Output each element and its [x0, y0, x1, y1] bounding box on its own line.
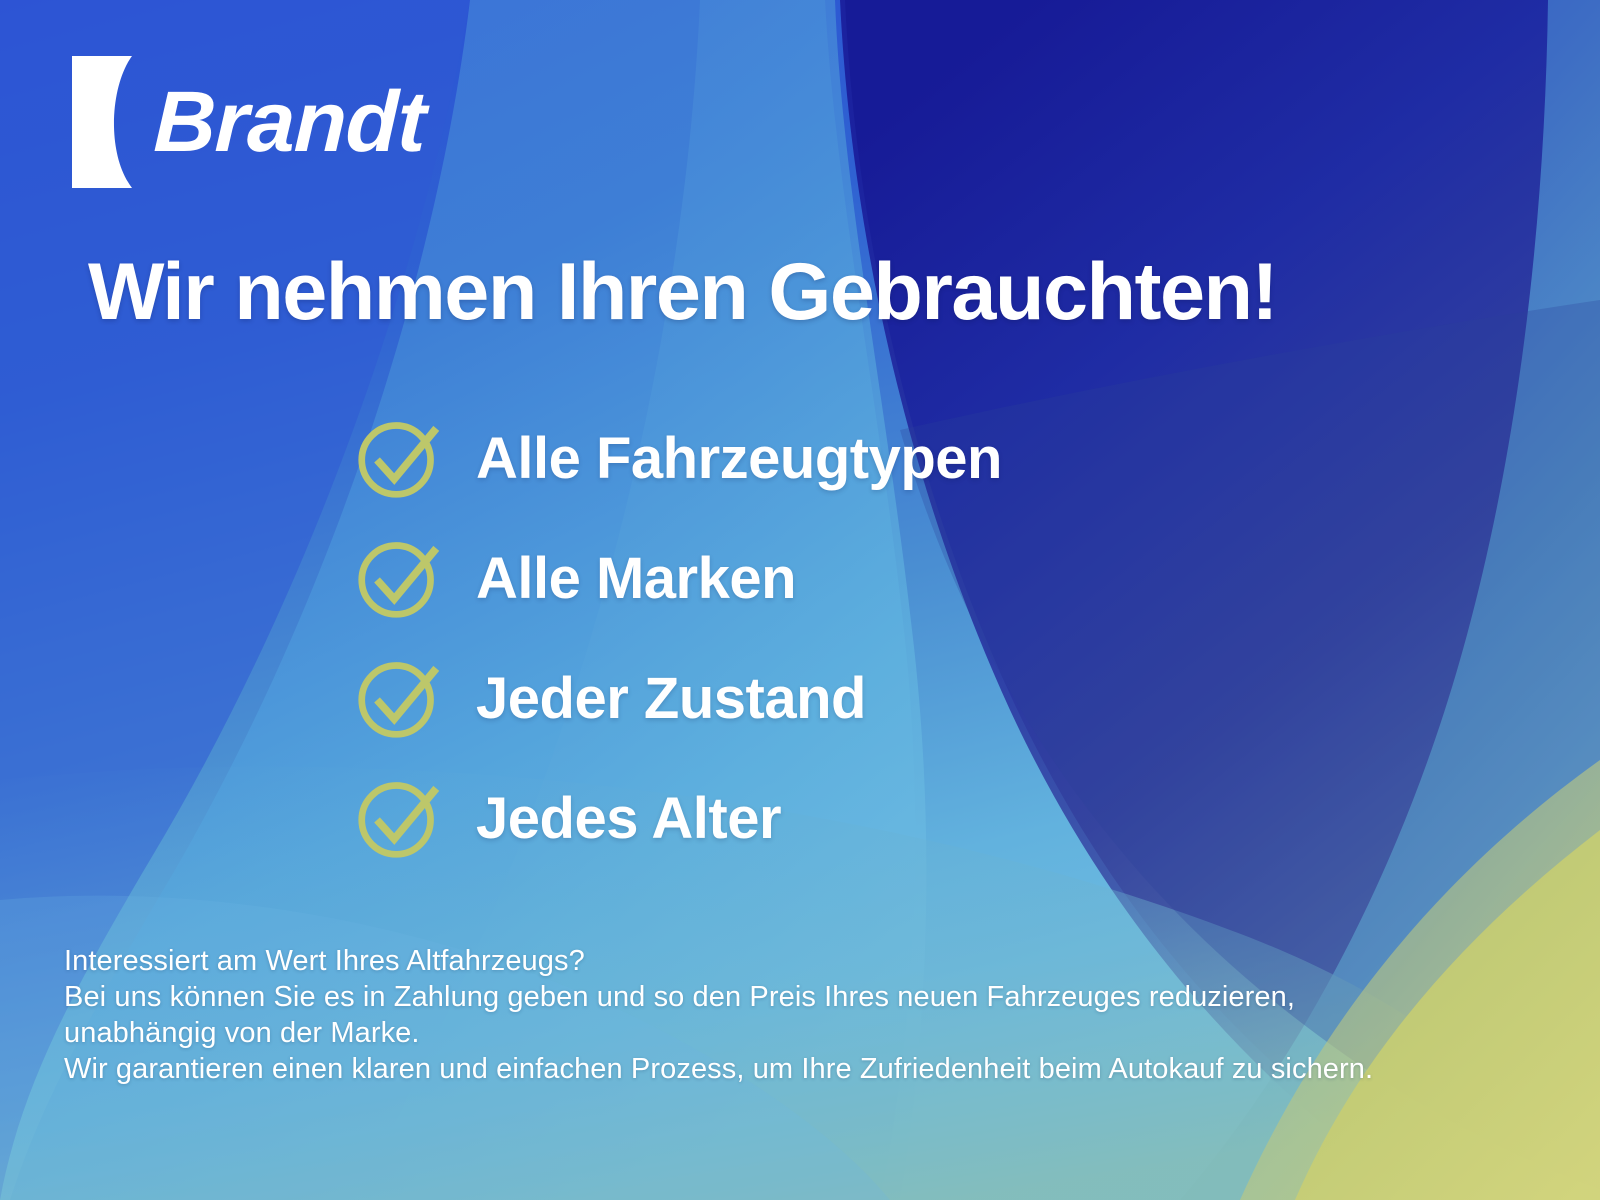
list-item: Alle Fahrzeugtypen: [356, 398, 1002, 518]
benefits-list: Alle Fahrzeugtypen Alle Marken Jeder Zus…: [356, 398, 1002, 878]
promo-banner: Brandt Wir nehmen Ihren Gebrauchten! All…: [0, 0, 1600, 1200]
check-circle-icon: [356, 415, 442, 501]
brand-logo[interactable]: Brandt: [70, 56, 425, 188]
list-item: Alle Marken: [356, 518, 1002, 638]
bracket-crescent-icon: [70, 56, 148, 188]
check-circle-icon: [356, 775, 442, 861]
headline: Wir nehmen Ihren Gebrauchten!: [88, 246, 1277, 339]
body-copy-line-3: unabhängig von der Marke.: [64, 1015, 1524, 1051]
body-copy-line-1: Interessiert am Wert Ihres Altfahrzeugs?: [64, 943, 1524, 979]
list-item-label: Alle Fahrzeugtypen: [476, 425, 1002, 492]
check-circle-icon: [356, 655, 442, 741]
body-copy-line-4: Wir garantieren einen klaren und einfach…: [64, 1051, 1524, 1087]
list-item-label: Jedes Alter: [476, 785, 781, 852]
body-copy: Interessiert am Wert Ihres Altfahrzeugs?…: [64, 943, 1524, 1087]
list-item: Jeder Zustand: [356, 638, 1002, 758]
body-copy-line-2: Bei uns können Sie es in Zahlung geben u…: [64, 979, 1524, 1015]
check-circle-icon: [356, 535, 442, 621]
list-item-label: Alle Marken: [476, 545, 796, 612]
brand-name: Brandt: [152, 79, 426, 165]
list-item-label: Jeder Zustand: [476, 665, 866, 732]
list-item: Jedes Alter: [356, 758, 1002, 878]
